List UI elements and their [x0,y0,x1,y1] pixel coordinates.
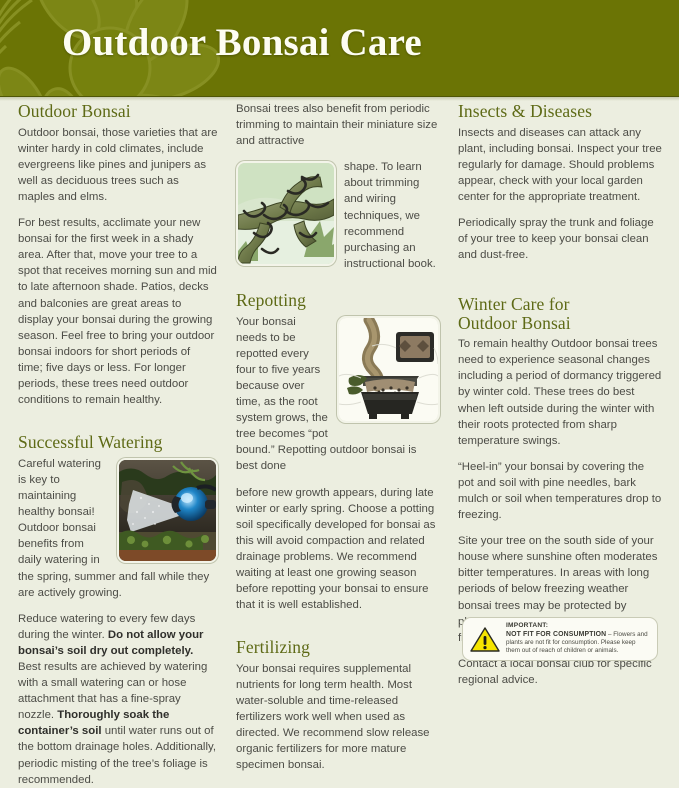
spacer [236,623,440,637]
spacer [236,282,440,290]
section-heading-winter-care: Winter Care for Outdoor Bonsai [458,295,663,333]
paragraph-winter-1: To remain healthy Outdoor bonsai trees n… [458,336,663,449]
bonsai-repotting-pot-photo [337,316,440,423]
section-heading-outdoor-bonsai: Outdoor Bonsai [18,101,218,122]
warning-line-notfit: NOT FIT FOR CONSUMPTION [506,631,606,638]
middle-column: Bonsai trees also benefit from periodic … [236,101,440,774]
content-columns: Outdoor Bonsai Outdoor bonsai, those var… [0,101,679,679]
right-column: Insects & Diseases Insects and diseases … [458,101,663,688]
warning-line-body: NOT FIT FOR CONSUMPTION – Flowers and pl… [506,631,650,656]
warning-triangle-icon [470,626,500,653]
bonsai-wiring-branch-photo [236,161,336,266]
paragraph-watering-rich: Reduce watering to every few days during… [18,611,218,788]
warning-box: IMPORTANT: NOT FIT FOR CONSUMPTION – Flo… [462,617,658,661]
warning-line-important: IMPORTANT: [506,622,650,630]
page-header: Outdoor Bonsai Care [0,0,679,97]
warning-text: IMPORTANT: NOT FIT FOR CONSUMPTION – Flo… [506,622,650,656]
section-heading-repotting: Repotting [236,290,440,311]
paragraph-trimming-intro: Bonsai trees also benefit from periodic … [236,101,440,149]
paragraph-insects-1: Insects and diseases can attack any plan… [458,125,663,205]
paragraph-outdoor-bonsai-2: For best results, acclimate your new bon… [18,215,218,408]
section-heading-fertilizing: Fertilizing [236,637,440,658]
page-title: Outdoor Bonsai Care [62,20,422,65]
section-heading-insects-diseases: Insects & Diseases [458,101,663,122]
spacer [18,418,218,432]
paragraph-outdoor-bonsai-1: Outdoor bonsai, those varieties that are… [18,125,218,205]
paragraph-repotting-after: before new growth appears, during late w… [236,485,440,614]
spacer [458,273,663,295]
winter-care-heading-line2: Outdoor Bonsai [458,313,571,333]
left-column: Outdoor Bonsai Outdoor bonsai, those var… [18,101,218,788]
paragraph-winter-2: “Heel-in” your bonsai by covering the po… [458,459,663,523]
section-heading-successful-watering: Successful Watering [18,432,218,453]
winter-care-heading-line1: Winter Care for [458,294,570,314]
page-root: Outdoor Bonsai Care Outdoor Bonsai Outdo… [0,0,679,679]
watering-hose-nozzle-photo [117,458,218,563]
paragraph-fertilizing-1: Your bonsai requires supplemental nutrie… [236,661,440,774]
paragraph-insects-2: Periodically spray the trunk and foliage… [458,215,663,263]
